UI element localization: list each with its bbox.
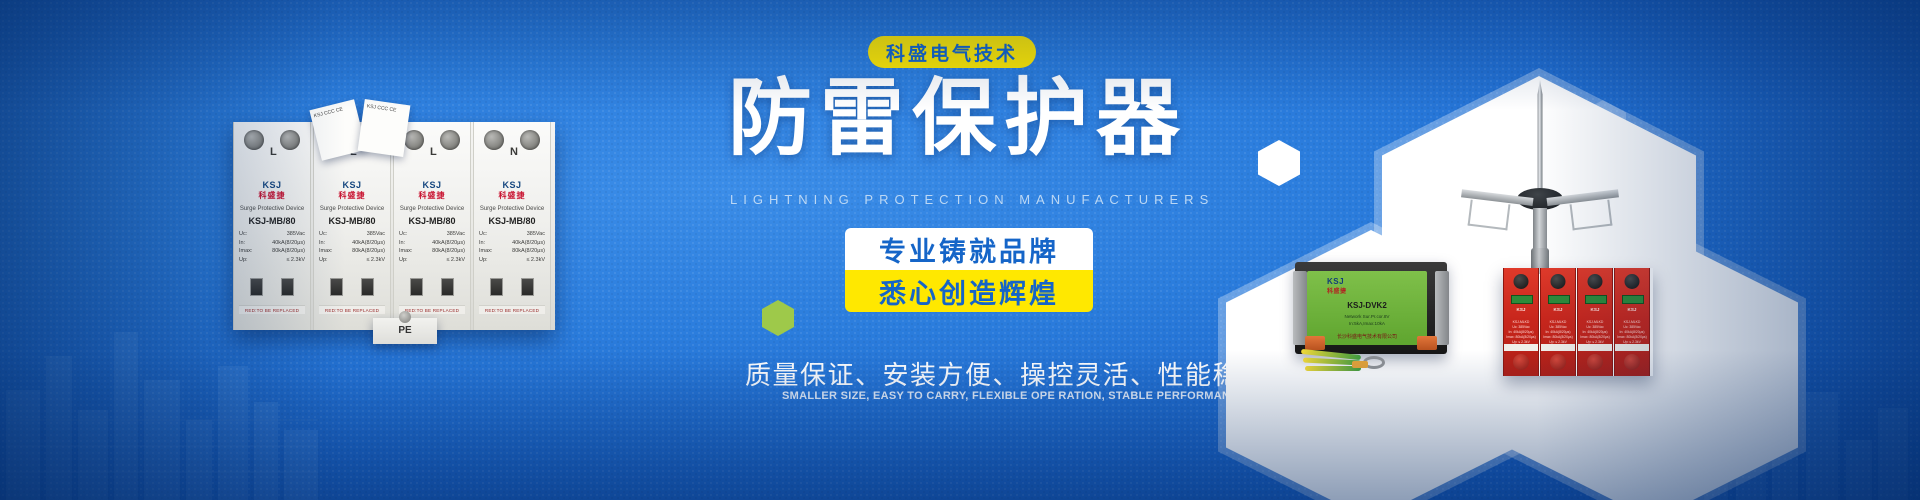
spec-key: Up: xyxy=(319,256,328,265)
product-photo-network-spd: KSJ 科盛捷 KSJ-DVK2 Network Sur.Pr.cor.8V I… xyxy=(1295,262,1447,354)
spec-value: 385Vac xyxy=(527,230,545,239)
mounting-bracket xyxy=(1293,271,1307,345)
red-spd-module-4: KSJ KSJ-MLKD Uc: 385Vac In: 40kA(8/20μs)… xyxy=(1614,268,1650,376)
spec-key: Imax: xyxy=(399,247,412,256)
spec-key: In: xyxy=(239,239,245,248)
hang-tag-text: KSJ CCC CE xyxy=(366,103,396,113)
spec-key: Imax: xyxy=(319,247,332,256)
spec-key: Up: xyxy=(239,256,248,265)
red-spd-logo: KSJ xyxy=(1504,307,1538,312)
terminal-label: L xyxy=(430,146,437,158)
red-spd-logo: KSJ xyxy=(1615,307,1649,312)
spd-brand-logo: KSJ 科盛捷 xyxy=(320,180,384,201)
red-spd-band xyxy=(1504,344,1538,351)
status-window xyxy=(330,278,343,296)
spec-value: ≤ 2.3kV xyxy=(286,256,305,265)
spec-value: 80kA(8/20μs) xyxy=(432,247,465,256)
slogan-primary: 专业铸就品牌 xyxy=(845,228,1093,270)
terminal-label: N xyxy=(510,146,518,158)
network-spd-desc-line1: Network Sur.Pr.cor.8V xyxy=(1307,313,1427,320)
network-spd-brand-en: KSJ xyxy=(1327,277,1344,286)
spd-device-label: Surge Protective Device xyxy=(479,206,545,212)
status-window xyxy=(250,278,263,296)
banner-headline: 防雷保护器 xyxy=(728,76,1188,160)
spd-replace-note: RED:TO BE REPLACED xyxy=(239,305,305,314)
red-spd-spec: KSJ-MLKD Uc: 385Vac In: 40kA(8/20μs) Ima… xyxy=(1506,320,1536,345)
spd-brand-en: KSJ xyxy=(342,180,361,190)
red-spd-spec: KSJ-MLKD Uc: 385Vac In: 40kA(8/20μs) Ima… xyxy=(1580,320,1610,345)
spd-module-4: N KSJ 科盛捷 Surge Protective Device KSJ-MB… xyxy=(473,122,551,330)
spec-key: Uc: xyxy=(479,230,487,239)
status-window xyxy=(361,278,374,296)
network-spd-description: Network Sur.Pr.cor.8V In:5kA,Imax:10kA xyxy=(1307,313,1427,327)
spd-model: KSJ-MB/80 xyxy=(479,216,545,226)
hexagon-decoration-small-white xyxy=(1258,140,1300,186)
network-spd-brand-cn: 科盛捷 xyxy=(1327,286,1347,295)
network-spd-desc-line2: In:5kA,Imax:10kA xyxy=(1307,320,1427,327)
ring-terminal-lug-icon xyxy=(1363,356,1385,369)
spec-key: In: xyxy=(399,239,405,248)
spec-key: In: xyxy=(479,239,485,248)
spd-spec-list: Uc:385Vac In:40kA(8/20μs) Imax:80kA(8/20… xyxy=(239,230,305,264)
spec-key: In: xyxy=(319,239,325,248)
red-spd-band xyxy=(1615,344,1649,351)
product-photo-red-spd: KSJ KSJ-MLKD Uc: 385Vac In: 40kA(8/20μs)… xyxy=(1503,268,1653,376)
spd-device-label: Surge Protective Device xyxy=(239,206,305,212)
promo-banner: L KSJ 科盛捷 Surge Protective Device KSJ-MB… xyxy=(0,0,1920,500)
spec-value: 80kA(8/20μs) xyxy=(352,247,385,256)
terminal-screw-icon xyxy=(404,130,424,150)
terminal-screw-icon xyxy=(1588,274,1603,289)
status-window xyxy=(441,278,454,296)
terminal-screw-icon xyxy=(1624,354,1640,370)
status-window xyxy=(521,278,534,296)
red-spd-band xyxy=(1541,344,1575,351)
red-spd-module-2: KSJ KSJ-MLKD Uc: 385Vac In: 40kA(8/20μs)… xyxy=(1540,268,1576,376)
ground-wire-bundle xyxy=(1301,348,1391,374)
banner-tagline: 质量保证、安装方便、操控灵活、性能稳定 xyxy=(745,355,1268,392)
spd-brand-logo: KSJ 科盛捷 xyxy=(240,180,304,201)
status-indicator-window xyxy=(1622,295,1644,304)
pe-screw-icon xyxy=(399,311,411,323)
spd-spec-list: Uc:385Vac In:40kA(8/20μs) Imax:80kA(8/20… xyxy=(479,230,545,264)
spd-brand-logo: KSJ 科盛捷 xyxy=(480,180,544,201)
terminal-screw-icon xyxy=(1625,274,1640,289)
spec-value: 80kA(8/20μs) xyxy=(272,247,305,256)
spec-value: 385Vac xyxy=(447,230,465,239)
banner-tagline-english: SMALLER SIZE, EASY TO CARRY, FLEXIBLE OP… xyxy=(782,390,1246,402)
mounting-bracket xyxy=(1435,271,1449,345)
spec-key: Uc: xyxy=(319,230,327,239)
terminal-screw-icon xyxy=(520,130,540,150)
spd-brand-cn: 科盛捷 xyxy=(240,190,304,201)
lightning-rod-cage xyxy=(1570,200,1613,231)
red-spd-logo: KSJ xyxy=(1578,307,1612,312)
red-spd-module-3: KSJ KSJ-MLKD Uc: 385Vac In: 40kA(8/20μs)… xyxy=(1577,268,1613,376)
red-spd-logo: KSJ xyxy=(1541,307,1575,312)
spd-model: KSJ-MB/80 xyxy=(319,216,385,226)
hang-tag-text: KSJ CCC CE xyxy=(313,106,343,119)
spd-model: KSJ-MB/80 xyxy=(399,216,465,226)
spec-value: 40kA(8/20μs) xyxy=(272,239,305,248)
spd-module-3: L KSJ 科盛捷 Surge Protective Device KSJ-MB… xyxy=(393,122,471,330)
spd-replace-note: RED:TO BE REPLACED xyxy=(319,305,385,314)
spec-key: Uc: xyxy=(239,230,247,239)
spd-device-label: Surge Protective Device xyxy=(319,206,385,212)
red-spd-band xyxy=(1578,344,1612,351)
status-window xyxy=(490,278,503,296)
terminal-label: L xyxy=(270,146,277,158)
spec-value: 80kA(8/20μs) xyxy=(512,247,545,256)
spec-key: Up: xyxy=(399,256,408,265)
terminal-screw-icon xyxy=(1513,354,1529,370)
spec-value: 40kA(8/20μs) xyxy=(432,239,465,248)
product-hang-tag: KSJ CCC CE xyxy=(358,99,411,157)
product-photo-white-spd: L KSJ 科盛捷 Surge Protective Device KSJ-MB… xyxy=(225,112,565,340)
spec-value: 40kA(8/20μs) xyxy=(512,239,545,248)
pe-label: PE xyxy=(398,325,411,336)
terminal-screw-icon xyxy=(1551,274,1566,289)
status-window xyxy=(410,278,423,296)
network-spd-model: KSJ-DVK2 xyxy=(1307,301,1427,310)
spec-key: Up: xyxy=(479,256,488,265)
lightning-rod-spike xyxy=(1538,80,1543,200)
red-spd-spec: KSJ-MLKD Uc: 385Vac In: 40kA(8/20μs) Ima… xyxy=(1617,320,1647,345)
terminal-screw-icon xyxy=(440,130,460,150)
red-spd-spec: KSJ-MLKD Uc: 385Vac In: 40kA(8/20μs) Ima… xyxy=(1543,320,1573,345)
spd-module-1: L KSJ 科盛捷 Surge Protective Device KSJ-MB… xyxy=(233,122,311,330)
spec-value: ≤ 2.3kV xyxy=(526,256,545,265)
spec-key: Imax: xyxy=(479,247,492,256)
spec-value: 385Vac xyxy=(287,230,305,239)
status-indicator-window xyxy=(1548,295,1570,304)
network-spd-brand: KSJ 科盛捷 xyxy=(1327,277,1347,295)
spd-spec-list: Uc:385Vac In:40kA(8/20μs) Imax:80kA(8/20… xyxy=(399,230,465,264)
terminal-screw-icon xyxy=(280,130,300,150)
slogan-stack: 专业铸就品牌 悉心创造辉煌 xyxy=(845,228,1093,312)
spec-value: ≤ 2.3kV xyxy=(446,256,465,265)
spec-key: Uc: xyxy=(399,230,407,239)
spec-value: 385Vac xyxy=(367,230,385,239)
lightning-rod-cage xyxy=(1468,200,1511,231)
terminal-screw-icon xyxy=(1587,354,1603,370)
terminal-screw-icon xyxy=(484,130,504,150)
status-indicator-window xyxy=(1585,295,1607,304)
spd-brand-cn: 科盛捷 xyxy=(480,190,544,201)
spec-value: ≤ 2.3kV xyxy=(366,256,385,265)
red-spd-module-1: KSJ KSJ-MLKD Uc: 385Vac In: 40kA(8/20μs)… xyxy=(1503,268,1539,376)
spd-brand-cn: 科盛捷 xyxy=(320,190,384,201)
spd-brand-en: KSJ xyxy=(422,180,441,190)
spec-value: 40kA(8/20μs) xyxy=(352,239,385,248)
status-indicator-window xyxy=(1511,295,1533,304)
status-window xyxy=(281,278,294,296)
terminal-screw-icon xyxy=(244,130,264,150)
spd-model: KSJ-MB/80 xyxy=(239,216,305,226)
spd-device-label: Surge Protective Device xyxy=(399,206,465,212)
wire-terminal-block xyxy=(1417,336,1437,350)
terminal-screw-icon xyxy=(1550,354,1566,370)
spd-brand-cn: 科盛捷 xyxy=(400,190,464,201)
network-spd-faceplate: KSJ 科盛捷 KSJ-DVK2 Network Sur.Pr.cor.8V I… xyxy=(1307,271,1427,345)
spec-key: Imax: xyxy=(239,247,252,256)
spd-brand-logo: KSJ 科盛捷 xyxy=(400,180,464,201)
spd-brand-en: KSJ xyxy=(502,180,521,190)
spd-spec-list: Uc:385Vac In:40kA(8/20μs) Imax:80kA(8/20… xyxy=(319,230,385,264)
spd-module-4-cap: N xyxy=(474,124,550,166)
terminal-screw-icon xyxy=(1514,274,1529,289)
spd-brand-en: KSJ xyxy=(262,180,281,190)
spd-pe-terminal: PE xyxy=(373,318,437,344)
brand-badge-label: 科盛电气技术 xyxy=(886,39,1018,66)
banner-headline-english: LIGHTNING PROTECTION MANUFACTURERS xyxy=(730,192,1214,207)
spd-module-1-cap: L xyxy=(234,124,310,166)
slogan-secondary: 悉心创造辉煌 xyxy=(845,270,1093,312)
network-spd-company: 长沙科盛电气技术有限公司 xyxy=(1307,333,1427,340)
spd-replace-note: RED:TO BE REPLACED xyxy=(479,305,545,314)
hexagon-accent-icon xyxy=(762,300,794,336)
brand-badge: 科盛电气技术 xyxy=(868,36,1036,68)
